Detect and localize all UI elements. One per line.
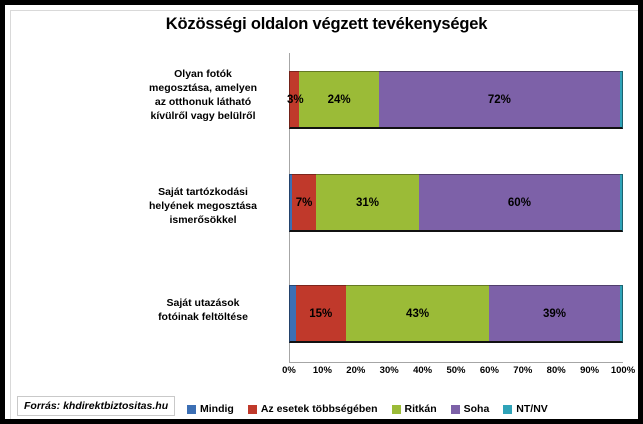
bar-segment-label: 3% — [287, 94, 304, 106]
chart-frame: Közösségi oldalon végzett tevékenységek … — [0, 0, 643, 424]
legend-label: Mindig — [200, 403, 234, 415]
chart-legend: MindigAz esetek többségébenRitkánSohaNT/… — [187, 399, 548, 419]
legend-swatch-icon — [503, 405, 512, 414]
bar-segment — [620, 71, 623, 129]
x-tick-label: 90% — [580, 365, 599, 376]
x-tick-label: 40% — [413, 365, 432, 376]
bar-segment: 24% — [299, 71, 379, 129]
x-tick-label: 80% — [547, 365, 566, 376]
bar-segment: 7% — [292, 174, 315, 232]
bar-row: 15%43%39% — [289, 285, 623, 343]
bar-segment — [620, 174, 623, 232]
bar-segment: 39% — [489, 285, 619, 343]
legend-swatch-icon — [451, 405, 460, 414]
legend-label: NT/NV — [516, 403, 548, 415]
bar-row: 7%31%60% — [289, 174, 623, 232]
bar-segment-label: 15% — [309, 308, 332, 320]
category-label-line: Olyan fotók — [123, 67, 283, 81]
category-label-line: megosztása, amelyen — [123, 81, 283, 95]
x-tick-label: 50% — [446, 365, 465, 376]
x-tick-label: 10% — [313, 365, 332, 376]
legend-item[interactable]: NT/NV — [503, 403, 548, 415]
plot-area: 3%24%72%7%31%60%15%43%39% — [289, 53, 623, 363]
bar-segment: 3% — [289, 71, 299, 129]
legend-swatch-icon — [187, 405, 196, 414]
legend-swatch-icon — [248, 405, 257, 414]
bar-segment-label: 24% — [328, 94, 351, 106]
category-label: Saját utazásokfotóinak feltöltése — [123, 296, 283, 324]
bar-row: 3%24%72% — [289, 71, 623, 129]
bar-segment — [289, 285, 296, 343]
legend-item[interactable]: Az esetek többségében — [248, 403, 378, 415]
x-tick-label: 100% — [611, 365, 635, 376]
category-label-line: kívülről vagy belülről — [123, 109, 283, 123]
x-axis-line — [289, 362, 623, 363]
bar-segment: 15% — [296, 285, 346, 343]
category-label-line: Saját utazások — [123, 296, 283, 310]
bar-segment — [620, 285, 623, 343]
chart-title: Közösségi oldalon végzett tevékenységek — [5, 15, 643, 34]
category-label-line: fotóinak feltöltése — [123, 310, 283, 324]
category-label: Saját tartózkodásihelyének megosztásaism… — [123, 185, 283, 227]
bar-segment-label: 39% — [543, 308, 566, 320]
category-label-line: az otthonuk látható — [123, 95, 283, 109]
category-label-line: helyének megosztása — [123, 199, 283, 213]
bar-segment-label: 7% — [296, 197, 313, 209]
bar-segment: 43% — [346, 285, 490, 343]
bar-segment-label: 60% — [508, 197, 531, 209]
legend-label: Ritkán — [405, 403, 437, 415]
legend-label: Az esetek többségében — [261, 403, 378, 415]
category-label-line: Saját tartózkodási — [123, 185, 283, 199]
x-axis-tick-labels: 0%10%20%30%40%50%60%70%80%90%100% — [289, 365, 623, 381]
bar-segment-label: 31% — [356, 197, 379, 209]
legend-label: Soha — [464, 403, 490, 415]
source-note: Forrás: khdirektbiztositas.hu — [17, 396, 175, 416]
bar-segment: 31% — [316, 174, 420, 232]
bar-segment-label: 43% — [406, 308, 429, 320]
legend-item[interactable]: Ritkán — [392, 403, 437, 415]
x-tick-label: 70% — [513, 365, 532, 376]
bar-segment: 60% — [419, 174, 619, 232]
legend-item[interactable]: Soha — [451, 403, 490, 415]
category-label-line: ismerősökkel — [123, 213, 283, 227]
category-label: Olyan fotókmegosztása, amelyenaz otthonu… — [123, 67, 283, 123]
x-tick-label: 60% — [480, 365, 499, 376]
bar-segment-label: 72% — [488, 94, 511, 106]
x-tick-label: 30% — [380, 365, 399, 376]
x-tick-label: 20% — [346, 365, 365, 376]
x-tick-label: 0% — [282, 365, 296, 376]
bar-segment: 72% — [379, 71, 619, 129]
legend-swatch-icon — [392, 405, 401, 414]
legend-item[interactable]: Mindig — [187, 403, 234, 415]
